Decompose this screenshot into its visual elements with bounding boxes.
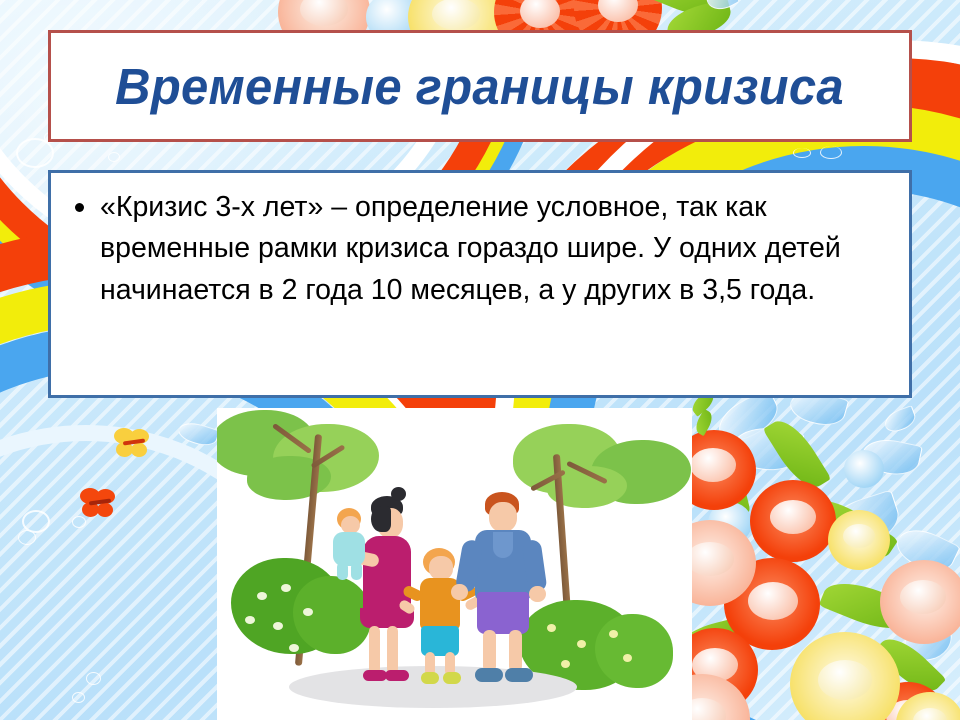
bush-spot	[289, 644, 299, 652]
bush-spot	[303, 608, 313, 616]
butterfly-icon	[76, 488, 120, 522]
content-box: «Кризис 3-х лет» – определение условное,…	[48, 170, 912, 398]
bubble-icon	[820, 146, 842, 159]
family-in-park-illustration	[217, 408, 692, 720]
bush-spot	[577, 640, 586, 648]
bubble-icon	[793, 148, 811, 158]
bubble-icon	[22, 510, 50, 533]
figure-baby	[325, 508, 371, 578]
bush-spot	[245, 616, 255, 624]
bush-spot	[273, 622, 283, 630]
bush-spot	[547, 624, 556, 632]
bubble-icon	[108, 152, 120, 162]
title-box: Временные границы кризиса	[48, 30, 912, 142]
bush-spot	[623, 654, 632, 662]
bullet-point-icon	[75, 203, 84, 212]
leaf-sprig-left	[690, 392, 716, 452]
bullet-list-item: «Кризис 3-х лет» – определение условное,…	[69, 187, 889, 311]
bush-spot	[561, 660, 570, 668]
figure-father	[463, 492, 543, 688]
bullet-text: «Кризис 3-х лет» – определение условное,…	[100, 187, 889, 311]
bush-spot	[609, 630, 618, 638]
slide: Временные границы кризиса «Кризис 3-х ле…	[0, 0, 960, 720]
bush-spot	[281, 584, 291, 592]
page-title: Временные границы кризиса	[116, 57, 845, 116]
bubble-icon	[86, 672, 101, 685]
bush-spot	[257, 592, 267, 600]
butterfly-icon	[110, 428, 154, 462]
bubble-icon	[72, 692, 85, 703]
